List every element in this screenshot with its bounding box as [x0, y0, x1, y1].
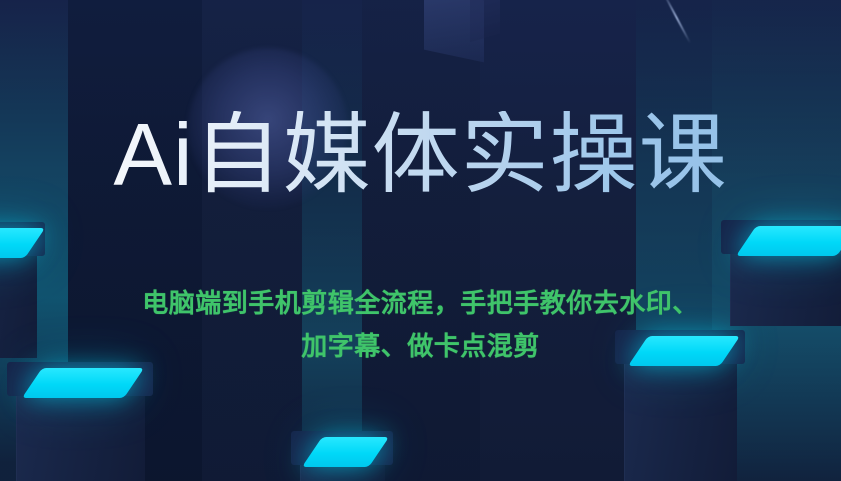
- course-cover-image: Ai自媒体实操课 电脑端到手机剪辑全流程，手把手教你去水印、 加字幕、做卡点混剪: [0, 0, 841, 481]
- decor-block-cyan-top: [736, 226, 841, 256]
- decor-block-lower-left: [16, 368, 144, 481]
- cover-title: Ai自媒体实操课: [0, 111, 841, 199]
- cover-subtitle: 电脑端到手机剪辑全流程，手把手教你去水印、 加字幕、做卡点混剪: [0, 282, 841, 368]
- decor-block-center-bottom: [300, 437, 384, 481]
- decor-block-cyan-top: [22, 368, 145, 398]
- background-band-mid-b: [362, 0, 480, 481]
- cover-subtitle-line-1: 电脑端到手机剪辑全流程，手把手教你去水印、: [0, 282, 841, 325]
- cover-subtitle-line-2: 加字幕、做卡点混剪: [0, 325, 841, 368]
